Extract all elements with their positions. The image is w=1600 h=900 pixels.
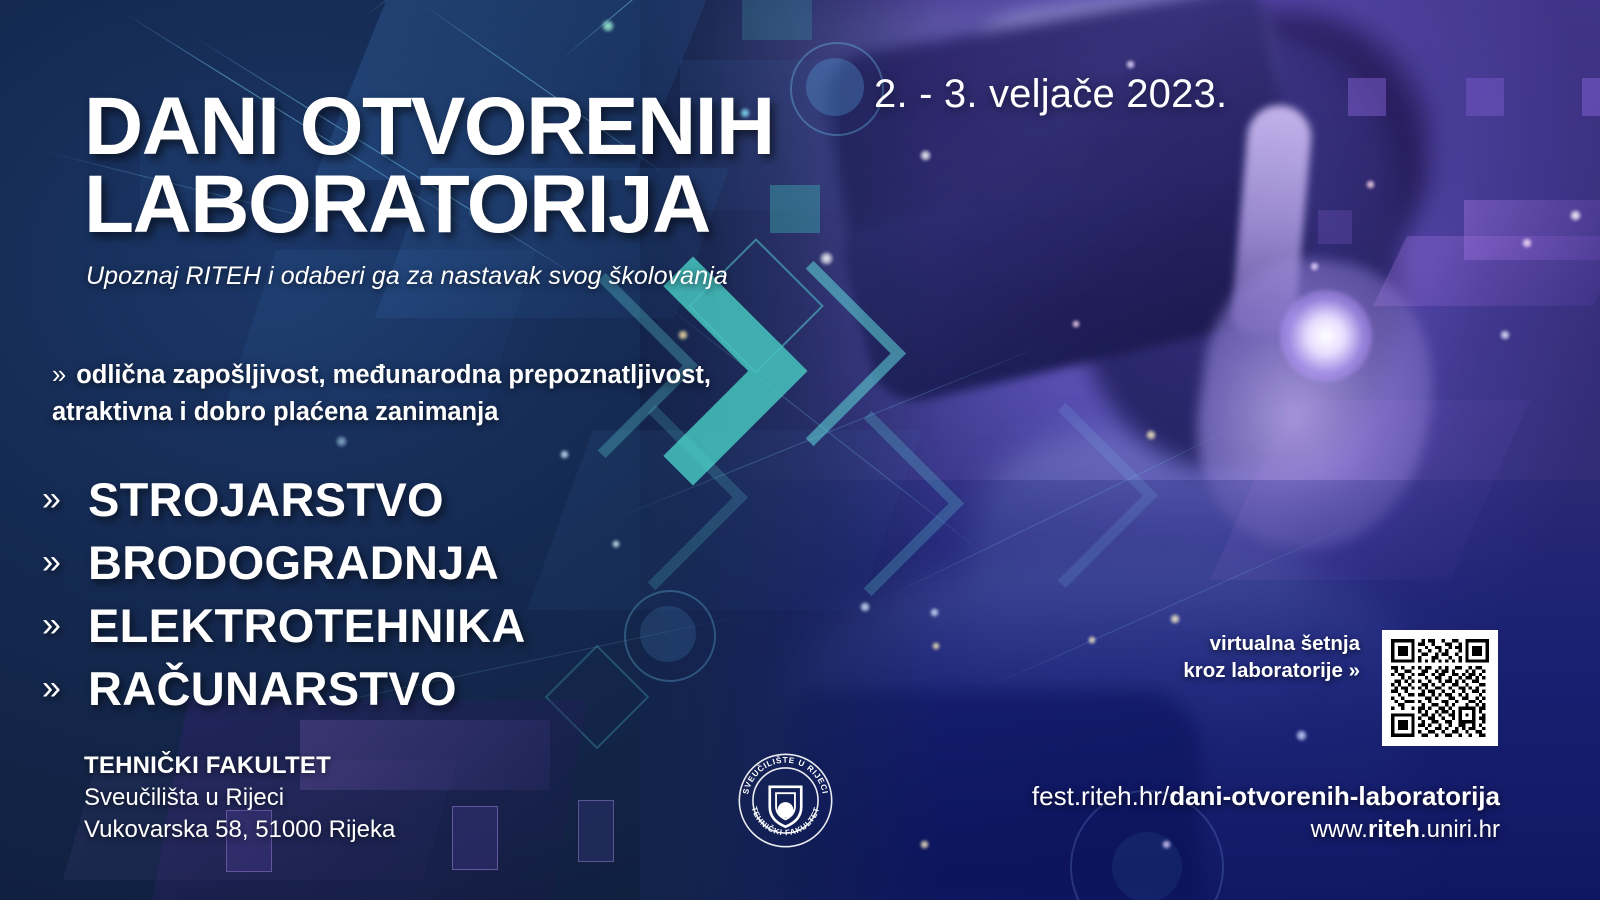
poster-root: 2. - 3. veljače 2023. DANI OTVORENIH LAB…	[0, 0, 1600, 900]
chevron-bullet-icon: »	[52, 361, 66, 389]
faculty-url-name: riteh	[1368, 816, 1420, 843]
program-label: STROJARSTVO	[88, 476, 444, 523]
event-url-path: dani-otvorenih-laboratorija	[1169, 781, 1500, 811]
virtual-tour-line-1: virtualna šetnja	[1160, 630, 1360, 657]
qr-code[interactable]	[1382, 630, 1498, 746]
event-url[interactable]: fest.riteh.hr/dani-otvorenih-laboratorij…	[1032, 780, 1500, 814]
list-item: » BRODOGRADNJA	[42, 531, 526, 593]
street-address: Vukovarska 58, 51000 Rijeka	[84, 814, 395, 846]
virtual-tour-cta[interactable]: virtualna šetnja kroz laboratorije »	[1160, 630, 1360, 684]
faculty-name: TEHNIČKI FAKULTET	[84, 750, 395, 782]
faculty-url-suffix: .uniri.hr	[1420, 816, 1500, 843]
programs-list: » STROJARSTVO » BRODOGRADNJA » ELEKTROTE…	[42, 468, 526, 720]
list-item: » STROJARSTVO	[42, 468, 526, 530]
program-label: RAČUNARSTVO	[88, 665, 457, 712]
event-url-prefix: fest.riteh.hr/	[1032, 781, 1169, 811]
university-name: Sveučilišta u Rijeci	[84, 782, 395, 814]
faculty-url[interactable]: www.riteh.uniri.hr	[1032, 814, 1500, 845]
chevron-bullet-icon: »	[42, 608, 88, 642]
tagline: Upoznaj RITEH i odaberi ga za nastavak s…	[86, 262, 728, 291]
faculty-url-prefix: www.	[1311, 816, 1368, 843]
event-date: 2. - 3. veljače 2023.	[874, 72, 1227, 117]
list-item: » RAČUNARSTVO	[42, 657, 526, 719]
program-label: ELEKTROTEHNIKA	[88, 602, 526, 649]
chevron-bullet-icon: »	[42, 545, 88, 579]
title-line-2: LABORATORIJA	[84, 166, 884, 244]
university-seal-logo: SVEUČILIŠTE U RIJECI TEHNIČKI FAKULTET	[733, 748, 838, 853]
list-item: » ELEKTROTEHNIKA	[42, 594, 526, 656]
poster-content: 2. - 3. veljače 2023. DANI OTVORENIH LAB…	[0, 0, 1600, 900]
chevron-bullet-icon: »	[42, 482, 88, 516]
blurb-line-2: atraktivna i dobro plaćena zanimanja	[52, 398, 498, 426]
blurb-line-1: odlična zapošljivost, međunarodna prepoz…	[76, 361, 711, 389]
faculty-address: TEHNIČKI FAKULTET Sveučilišta u Rijeci V…	[84, 750, 395, 846]
virtual-tour-line-2: kroz laboratorije »	[1160, 657, 1360, 684]
program-label: BRODOGRADNJA	[88, 539, 499, 586]
website-urls[interactable]: fest.riteh.hr/dani-otvorenih-laboratorij…	[1032, 780, 1500, 845]
page-title: DANI OTVORENIH LABORATORIJA	[84, 88, 884, 244]
chevron-bullet-icon: »	[42, 671, 88, 705]
benefits-blurb: »odlična zapošljivost, međunarodna prepo…	[52, 357, 812, 431]
